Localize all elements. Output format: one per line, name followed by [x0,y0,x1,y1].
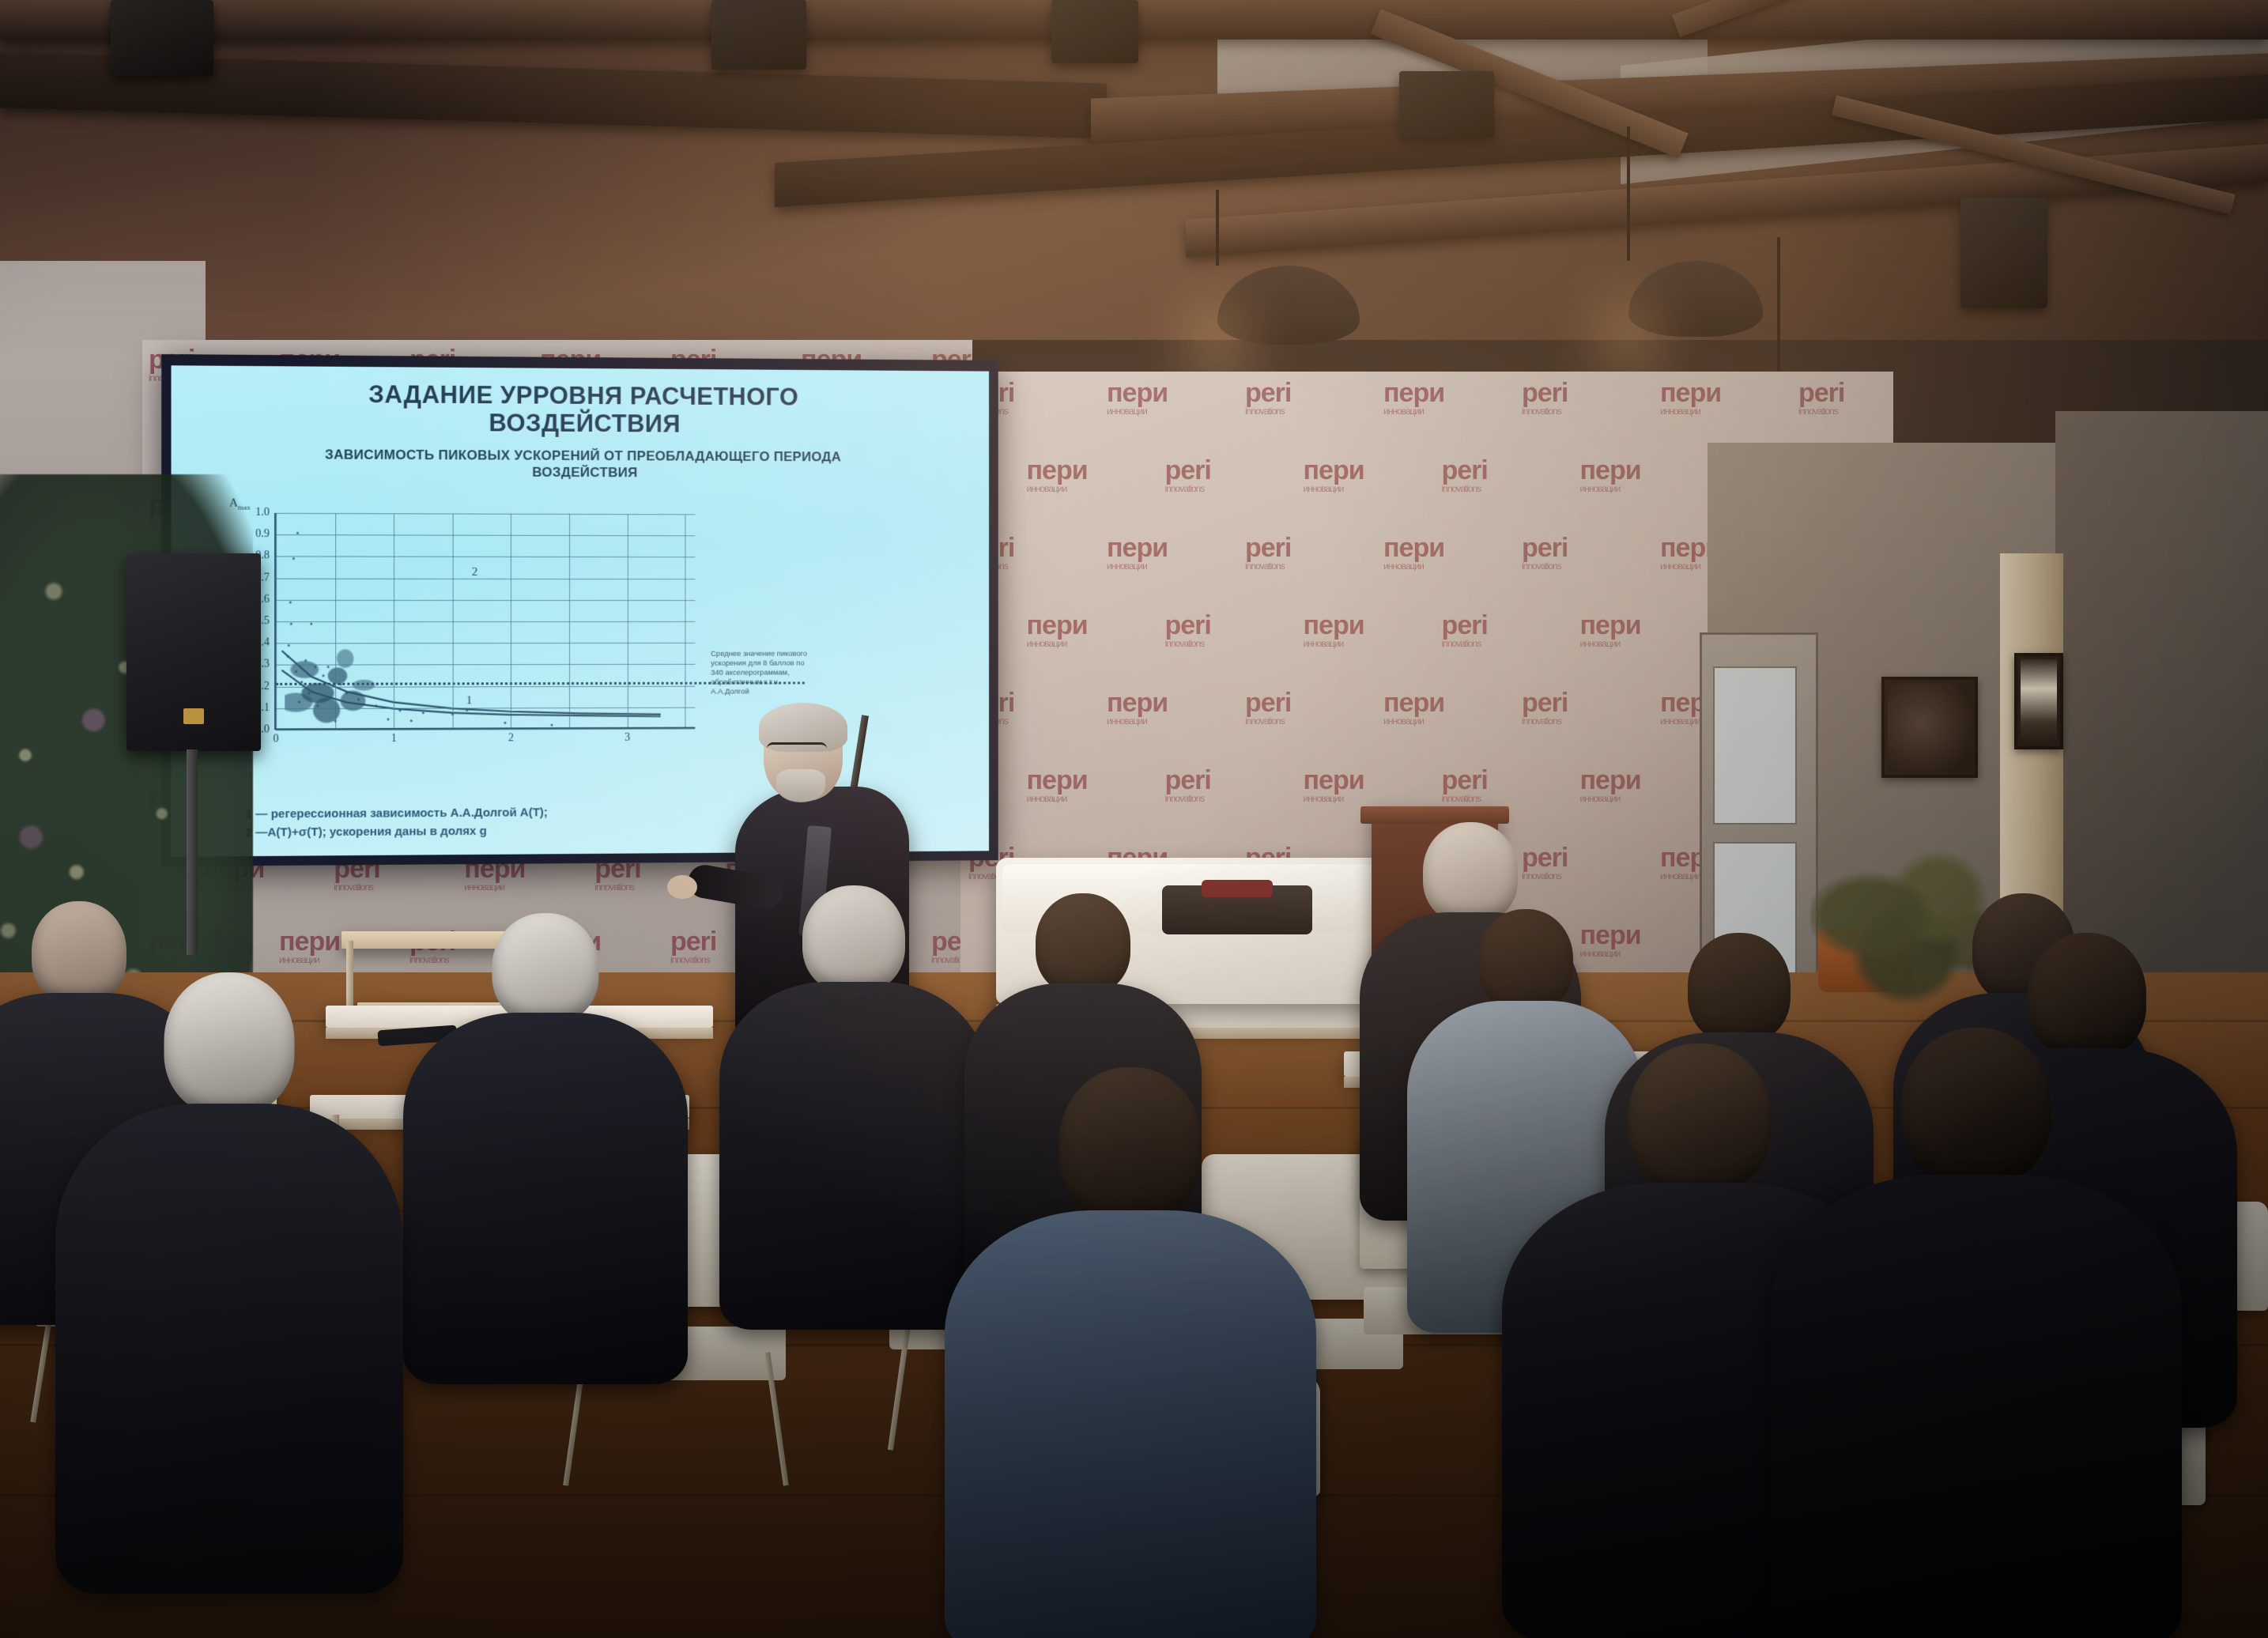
slide-title-line1: ЗАДАНИЕ УРРОВНЯ РАСЧЕТНОГО [368,380,798,410]
peri-logo: periinnovations [1522,534,1568,571]
peri-logo-cyrillic: периинновации [1580,922,1641,958]
slide-subtitle: ЗАВИСИМОСТЬ ПИКОВЫХ УСКОРЕНИЙ ОТ ПРЕОБЛА… [195,446,966,483]
person-body [55,1104,403,1594]
peri-logo-cyrillic: периинновации [1580,612,1641,648]
person-body [403,1013,688,1384]
red-folder [1202,880,1273,897]
chart-y-tick: 1.0 [255,506,270,519]
peri-logo-cyrillic: периинновации [1107,379,1168,416]
chart-curve-label-2: 2 [472,566,478,579]
peri-logo: periinnovations [1442,612,1488,648]
ceiling-speaker [1051,0,1138,63]
chart-gridline-v [628,514,628,727]
peri-logo: periinnovations [1522,844,1568,881]
door-pane [1713,666,1797,825]
peri-logo-cyrillic: периинновации [1304,612,1364,648]
person-head [492,913,599,1024]
chart-gridline-h [276,729,695,731]
chart-curve-label-1: 1 [466,694,473,708]
peri-logo-cyrillic: периинновации [1027,457,1088,493]
peri-logo: periinnovations [1798,379,1844,416]
peri-logo-cyrillic: периинновации [1580,457,1641,493]
chart-data-point [422,711,425,714]
chart-data-point [300,681,303,684]
peri-logo-cyrillic: периинновации [1304,457,1364,493]
peri-logo: periinnovations [1165,767,1211,803]
chart-data-point [310,623,312,625]
chart-x-tick: 2 [508,732,514,745]
person-body [945,1210,1316,1638]
peri-logo-cyrillic: периинновации [1107,534,1168,571]
peri-logo: periinnovations [1522,379,1568,416]
chart-data-point [316,705,319,708]
chart-data-point [287,655,289,658]
peri-logo-cyrillic: периинновации [1383,379,1444,416]
wall-speaker [1960,198,2047,308]
chart-gridline-h [276,600,695,601]
speaker-brand-badge [183,708,204,724]
ceiling-speaker [1399,71,1494,138]
pa-speaker [126,553,261,751]
ceiling-speaker [111,0,213,76]
person-head [2028,933,2146,1059]
chart-data-point [398,709,401,711]
chart-data-point [295,670,297,673]
person-head [1478,909,1573,1012]
conference-room-photo: periinnovationsпериинновацииperiinnovati… [0,0,2268,1638]
speaker-stand [187,749,198,955]
peri-logo-cyrillic: периинновации [1660,379,1721,416]
chart-data-point [334,720,336,723]
peri-logo-cyrillic: периинновации [1304,767,1364,803]
person-head [1423,822,1518,923]
chart-data-point [451,713,454,715]
lamp-cord [1627,126,1630,261]
chart-data-point [288,644,290,647]
slide-title: ЗАДАНИЕ УРРОВНЯ РАСЧЕТНОГО ВОЗДЕЙСТВИЯ [172,379,990,440]
person-head [1688,933,1791,1044]
chart-data-point [504,722,506,724]
chart-gridline-v [276,513,277,728]
person-head [1036,893,1130,994]
chart-curve [282,670,661,718]
chart-gridline-h [276,621,695,622]
chart-gridline-v [685,514,686,727]
chart-data-point [314,666,316,668]
peri-logo: periinnovations [1245,379,1291,416]
chart-data-point [326,666,329,668]
person-head [164,972,295,1115]
chart-data-point [289,601,291,603]
slide-title-line2: ВОЗДЕЙСТВИЯ [489,409,681,437]
presenter-hand [667,875,697,899]
slide-chart: Amax 2 1 1.00.90.80.70.60.50.40.30.20.10… [225,500,772,764]
peri-logo: periinnovations [1245,534,1291,571]
lamp-cord [1216,190,1219,266]
framed-picture [1881,677,1978,778]
person-body [1771,1175,2182,1638]
ceiling-speaker [711,0,806,70]
chart-gridline-v [569,514,570,727]
chart-x-tick: 0 [274,733,279,745]
peri-logo: periinnovations [1165,612,1211,648]
peri-logo-cyrillic: периинновации [1107,689,1168,726]
chart-data-point [296,531,298,534]
chart-data-point [290,623,292,625]
chart-gridline-v [452,514,453,728]
chart-data-point [410,720,413,723]
chart-x-tick: 3 [625,732,630,745]
peri-logo-cyrillic: периинновации [1383,534,1444,571]
peri-logo-cyrillic: периинновации [1027,767,1088,803]
chart-y-tick: 0.9 [255,528,270,541]
peri-logo-cyrillic: периинновации [1580,767,1641,803]
chart-gridline-v [394,513,394,728]
person-head [32,901,126,1004]
slide-subtitle-line2: ВОЗДЕЙСТВИЯ [532,465,637,481]
peri-logo: periinnovations [1522,689,1568,726]
chart-data-point [375,705,377,708]
person-head [802,885,905,993]
chart-annotation: Среднее значение пикового ускорения для … [711,650,813,696]
person-head [1901,1028,2051,1186]
chart-data-point [308,692,310,694]
chart-data-point [364,703,366,705]
chart-data-point [292,557,295,560]
chart-gridline-v [511,514,511,728]
chart-x-tick: 1 [391,733,397,745]
peri-logo: periinnovations [1442,767,1488,803]
presenter-beard [776,769,825,802]
chart-data-point [322,674,324,677]
person-head [1059,1067,1202,1221]
chart-data-point [550,723,553,726]
slide-subtitle-line1: ЗАВИСИМОСТЬ ПИКОВЫХ УСКОРЕНИЙ ОТ ПРЕОБЛА… [325,447,841,464]
chart-gridline-v [335,513,336,728]
chart-data-point [387,718,389,720]
chart-data-point [345,692,348,694]
peri-logo-cyrillic: периинновации [279,928,340,964]
chart-plot-area: 2 1 1.00.90.80.70.60.50.40.30.20.10.0012… [274,513,695,730]
person-head [1628,1044,1771,1194]
chart-data-point [357,698,360,700]
framed-picture [2014,653,2063,749]
chart-data-point [304,659,307,662]
peri-logo-cyrillic: периинновации [1383,689,1444,726]
chart-data-point [298,700,300,703]
presenter-glasses [767,742,827,755]
peri-logo: periinnovations [1165,457,1211,493]
person-body [719,982,988,1330]
peri-logo: periinnovations [670,928,716,964]
chart-data-point [466,709,468,711]
chart-data-point [340,683,342,685]
peri-logo: periinnovations [1245,689,1291,726]
peri-logo: periinnovations [1442,457,1488,493]
peri-logo-cyrillic: периинновации [1027,612,1088,648]
